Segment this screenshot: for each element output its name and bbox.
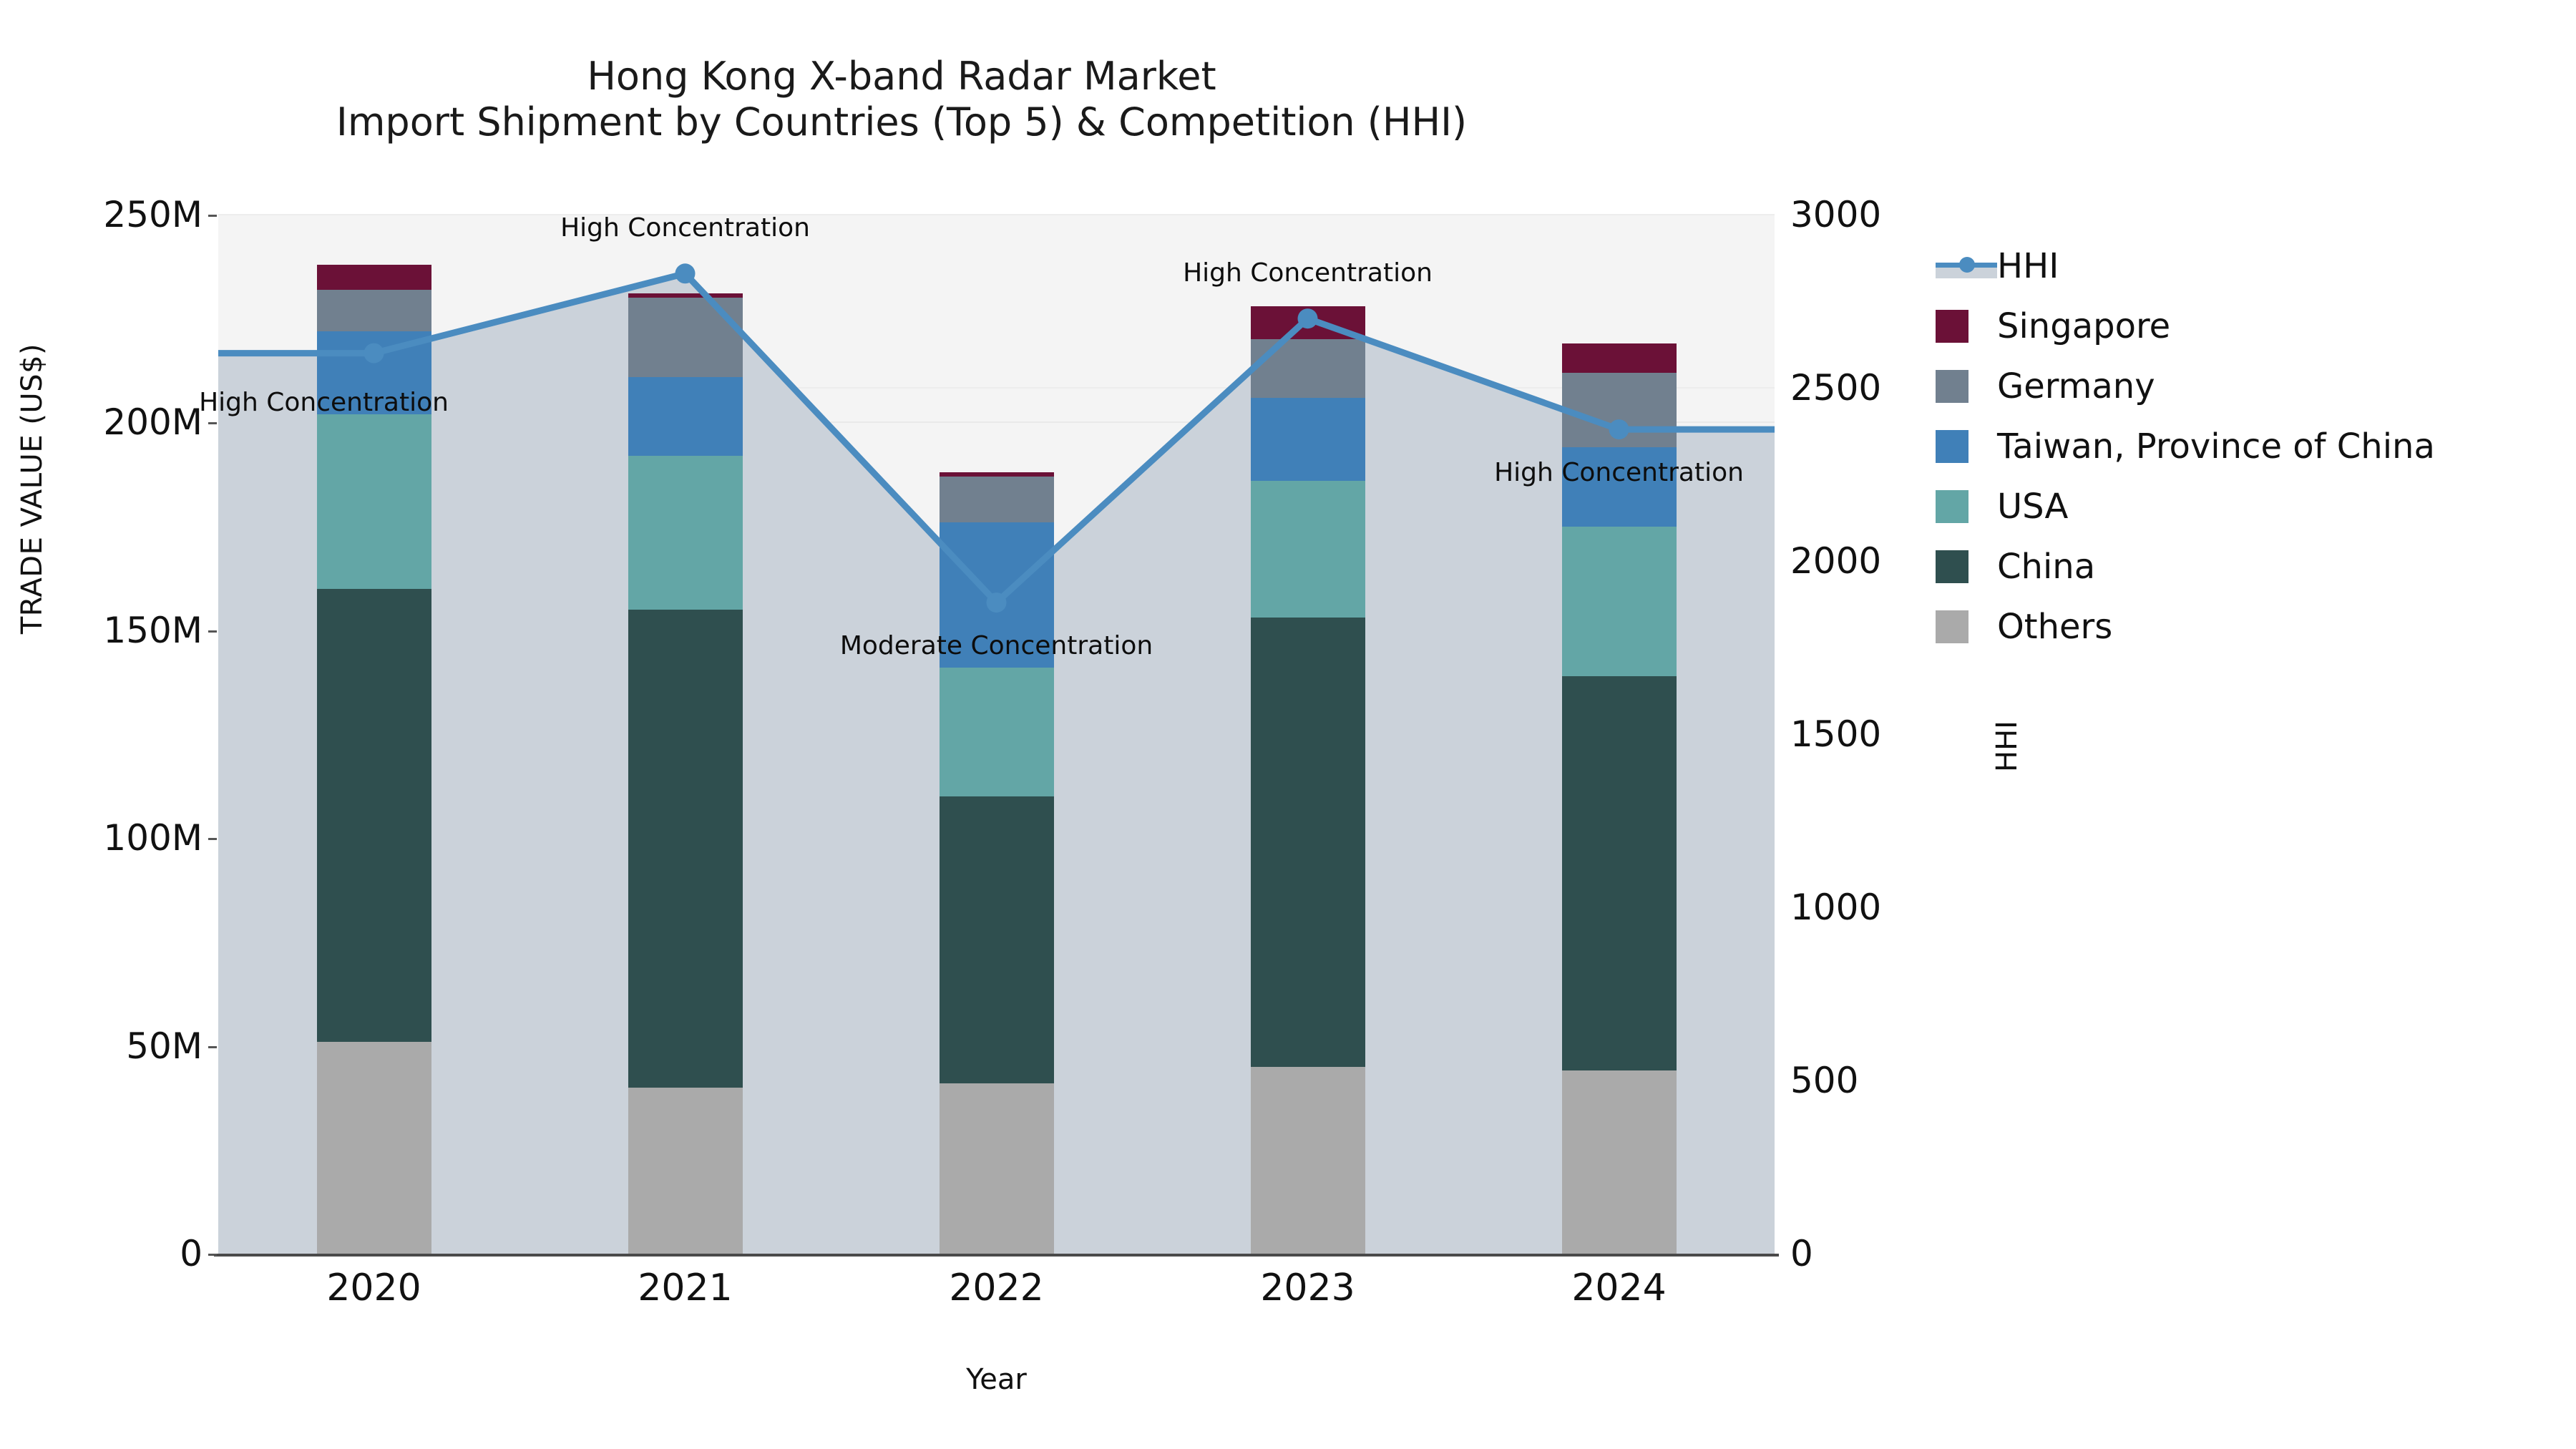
concentration-annotation: High Concentration xyxy=(199,388,449,417)
hhi-marker xyxy=(1298,308,1318,328)
hhi-marker xyxy=(675,263,696,283)
concentration-annotation: High Concentration xyxy=(560,213,810,243)
hhi-marker xyxy=(1609,419,1629,439)
chart-canvas: Hong Kong X-band Radar Market Import Shi… xyxy=(0,0,2576,1449)
hhi-line xyxy=(0,0,2576,1449)
hhi-marker xyxy=(364,343,384,364)
concentration-annotation: Moderate Concentration xyxy=(840,631,1153,660)
hhi-marker xyxy=(987,592,1007,613)
concentration-annotation: High Concentration xyxy=(1494,458,1744,487)
hhi-line-path xyxy=(218,273,1775,602)
concentration-annotation: High Concentration xyxy=(1183,258,1433,288)
